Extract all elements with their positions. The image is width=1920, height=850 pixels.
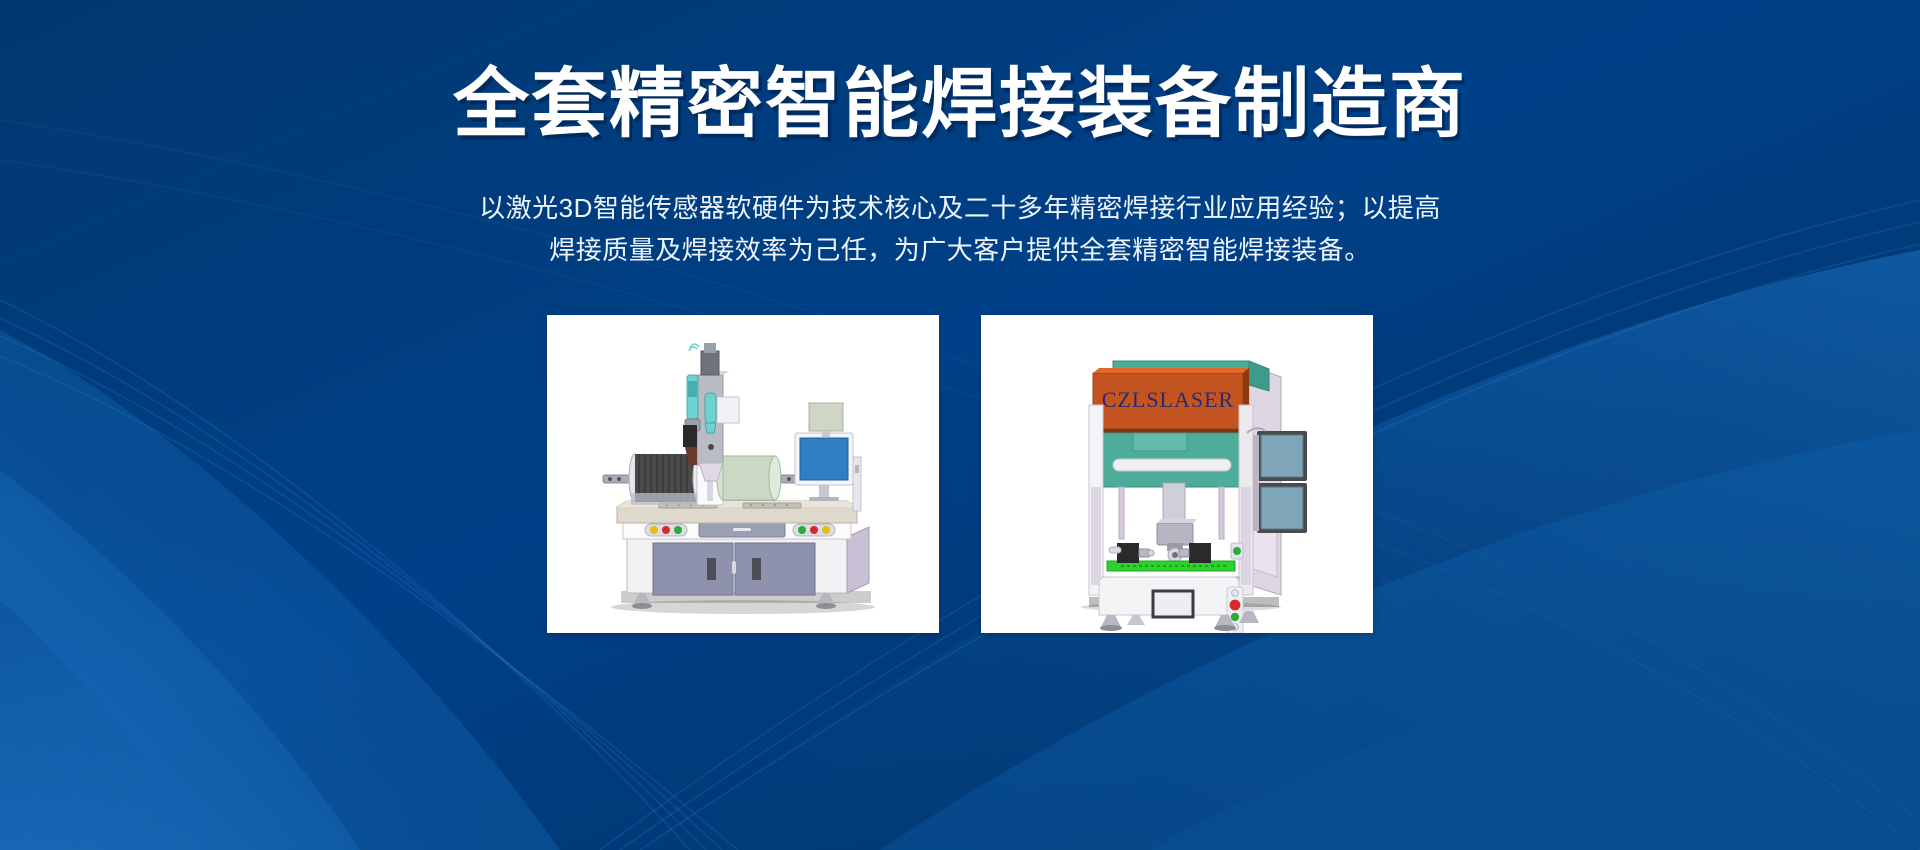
product-card-czlslaser-enclosed-welder[interactable]: CZLSLASER xyxy=(981,315,1373,633)
subtitle-line-2: 焊接质量及焊接效率为己任，为广大客户提供全套精密智能焊接装备。 xyxy=(405,229,1515,271)
subtitle-line-1: 以激光3D智能传感器软硬件为技术核心及二十多年精密焊接行业应用经验；以提高 xyxy=(405,187,1515,229)
machine-illustration-workstation xyxy=(547,315,939,633)
brand-text: CZLSLASER xyxy=(1102,387,1234,412)
product-image-cards: 精密智能焊接工作站 xyxy=(547,315,1373,633)
product-card-precision-welding-workstation[interactable]: 精密智能焊接工作站 xyxy=(547,315,939,633)
machine-illustration-czlslaser: CZLSLASER xyxy=(981,315,1373,633)
banner-stage: 全套精密智能焊接装备制造商 以激光3D智能传感器软硬件为技术核心及二十多年精密焊… xyxy=(0,0,1920,850)
subtitle-block: 以激光3D智能传感器软硬件为技术核心及二十多年精密焊接行业应用经验；以提高 焊接… xyxy=(405,187,1515,271)
banner-content: 全套精密智能焊接装备制造商 以激光3D智能传感器软硬件为技术核心及二十多年精密焊… xyxy=(0,0,1920,850)
page-title: 全套精密智能焊接装备制造商 xyxy=(453,62,1467,147)
